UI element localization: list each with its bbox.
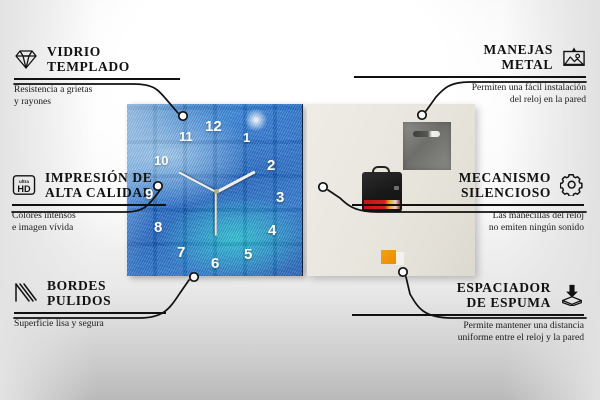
feature-mecanismo-silencioso: MECANISMO SILENCIOSO Las manecillas del … (352, 170, 584, 235)
feature-desc-line: del reloj en la pared (354, 94, 586, 106)
clock-numeral-2: 2 (267, 157, 275, 174)
infographic-canvas: 12 1 2 3 4 5 6 7 8 9 10 11 (0, 0, 600, 400)
feature-desc-line: Las manecillas del reloj (352, 210, 584, 222)
gear-icon (560, 174, 584, 196)
feature-title-line: PULIDOS (47, 293, 111, 308)
ultra-hd-icon-bottom: HD (17, 184, 31, 194)
feature-desc-line: uniforme entre el reloj y la pared (352, 332, 584, 344)
feature-desc-line: Colores intensos (12, 210, 244, 222)
feature-title-line: MANEJAS (484, 42, 553, 57)
picture-frame-hook-icon (562, 46, 586, 68)
clock-numeral-5: 5 (244, 246, 252, 263)
feature-vidrio-templado: VIDRIO TEMPLADO Resistencia a grietas y … (14, 44, 246, 109)
foam-spacer (381, 250, 396, 264)
clock-center-pin (214, 189, 219, 194)
feature-title-line: MECANISMO (459, 170, 551, 185)
feature-divider (14, 78, 180, 80)
feature-title-line: TEMPLADO (47, 59, 130, 74)
ultra-hd-icon: ultra HD (12, 174, 36, 196)
feature-title-line: IMPRESIÓN DE (45, 170, 153, 185)
feature-impresion-alta-calidad: ultra HD IMPRESIÓN DE ALTA CALIDAD Color… (12, 170, 244, 235)
feature-desc-line: Permite mantener una distancia (352, 320, 584, 332)
clock-hand-second (215, 192, 217, 236)
metal-hanger (403, 122, 451, 170)
feature-title-line: VIDRIO (47, 44, 130, 59)
feature-title-line: ALTA CALIDAD (45, 185, 153, 200)
clock-numeral-6: 6 (211, 255, 219, 272)
clock-numeral-9: 9 (145, 186, 153, 203)
feature-divider (354, 76, 586, 78)
feature-title-line: ESPACIADOR (457, 280, 551, 295)
foam-spacer-icon (560, 284, 584, 306)
feature-espaciador-espuma: ESPACIADOR DE ESPUMA Permite mantener un… (352, 280, 584, 345)
clock-numeral-10: 10 (154, 153, 168, 168)
feature-divider (352, 314, 584, 316)
feature-title-line: BORDES (47, 278, 111, 293)
clock-numeral-11: 11 (179, 129, 193, 144)
feature-title-line: SILENCIOSO (459, 185, 551, 200)
feature-divider (12, 204, 166, 206)
hanger-slot (413, 131, 440, 137)
feature-desc-line: Resistencia a grietas (14, 84, 246, 96)
feature-bordes-pulidos: BORDES PULIDOS Superficie lisa y segura (14, 278, 246, 330)
feature-title-line: DE ESPUMA (457, 295, 551, 310)
feature-desc-line: e imagen vívida (12, 222, 244, 234)
beveled-edge-icon (14, 282, 38, 304)
clock-numeral-4: 4 (268, 222, 276, 239)
clock-numeral-12: 12 (205, 118, 222, 135)
clock-side-edge (302, 104, 303, 276)
diamond-icon (14, 48, 38, 70)
feature-title-line: METAL (484, 57, 553, 72)
feature-manejas-metal: MANEJAS METAL Permiten una fácil instala… (354, 42, 586, 107)
feature-divider (14, 312, 166, 314)
feature-divider (352, 204, 584, 206)
feature-desc-line: no emiten ningún sonido (352, 222, 584, 234)
clock-numeral-3: 3 (276, 189, 284, 206)
feature-desc-line: Permiten una fácil instalación (354, 82, 586, 94)
clock-numeral-8: 8 (154, 219, 162, 236)
clock-numeral-7: 7 (177, 244, 185, 261)
feature-desc-line: Superficie lisa y segura (14, 318, 246, 330)
feature-desc-line: y rayones (14, 96, 246, 108)
clock-numeral-1: 1 (243, 130, 250, 145)
